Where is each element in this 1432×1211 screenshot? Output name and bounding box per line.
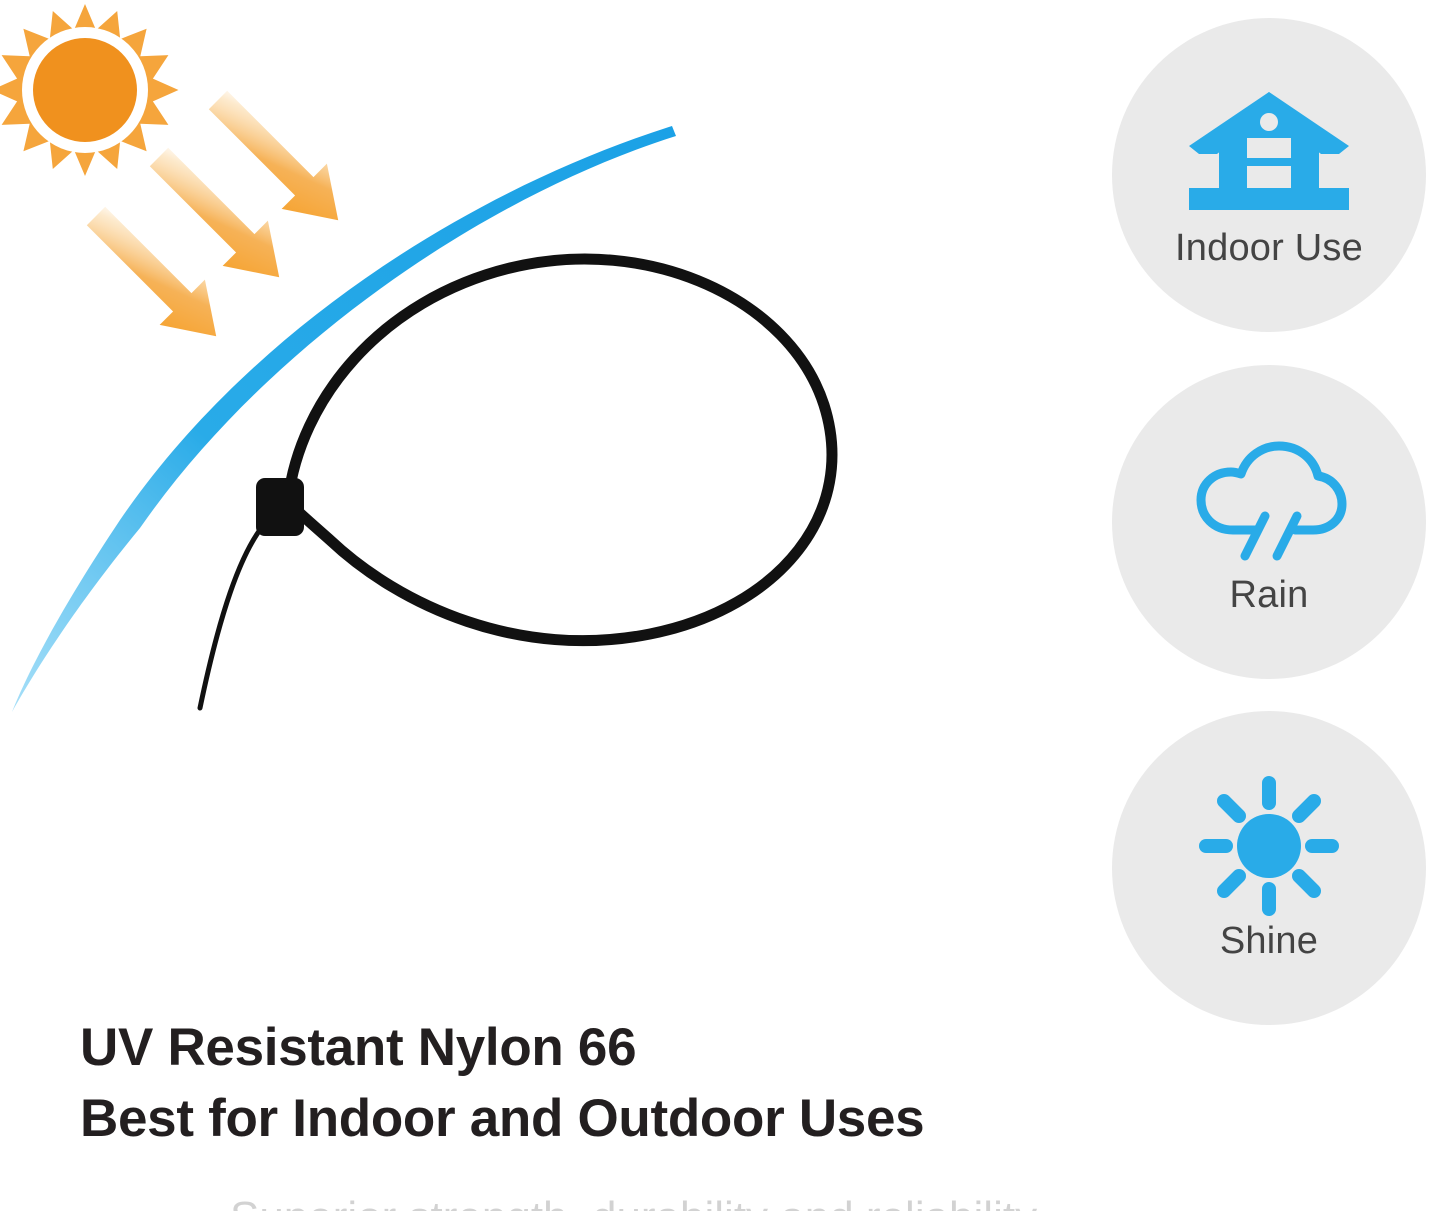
uv-protection-illustration bbox=[0, 0, 1060, 1000]
sun-shine-icon bbox=[1184, 776, 1354, 916]
headline-line-2: Best for Indoor and Outdoor Uses bbox=[80, 1083, 1080, 1154]
feature-label-shine: Shine bbox=[1220, 922, 1318, 960]
headline-block: UV Resistant Nylon 66 Best for Indoor an… bbox=[80, 1012, 1080, 1154]
cable-tie-head-icon bbox=[256, 478, 304, 536]
feature-label-indoor-use: Indoor Use bbox=[1175, 229, 1363, 267]
house-icon bbox=[1184, 83, 1354, 223]
feature-badge-shine[interactable]: Shine bbox=[1112, 711, 1426, 1025]
cropped-subline: Superior strength, durability and reliab… bbox=[230, 1196, 1130, 1211]
infographic-canvas: Indoor Use Rain bbox=[0, 0, 1432, 1211]
sun-burst-icon bbox=[0, 4, 179, 176]
feature-label-rain: Rain bbox=[1230, 576, 1309, 614]
feature-badge-indoor-use[interactable]: Indoor Use bbox=[1112, 18, 1426, 332]
rain-cloud-icon bbox=[1184, 430, 1354, 570]
cropped-subline-text: Superior strength, durability and reliab… bbox=[230, 1196, 1130, 1211]
feature-badge-list: Indoor Use Rain bbox=[1112, 18, 1428, 1020]
feature-badge-rain[interactable]: Rain bbox=[1112, 365, 1426, 679]
headline-line-1: UV Resistant Nylon 66 bbox=[80, 1012, 1080, 1083]
